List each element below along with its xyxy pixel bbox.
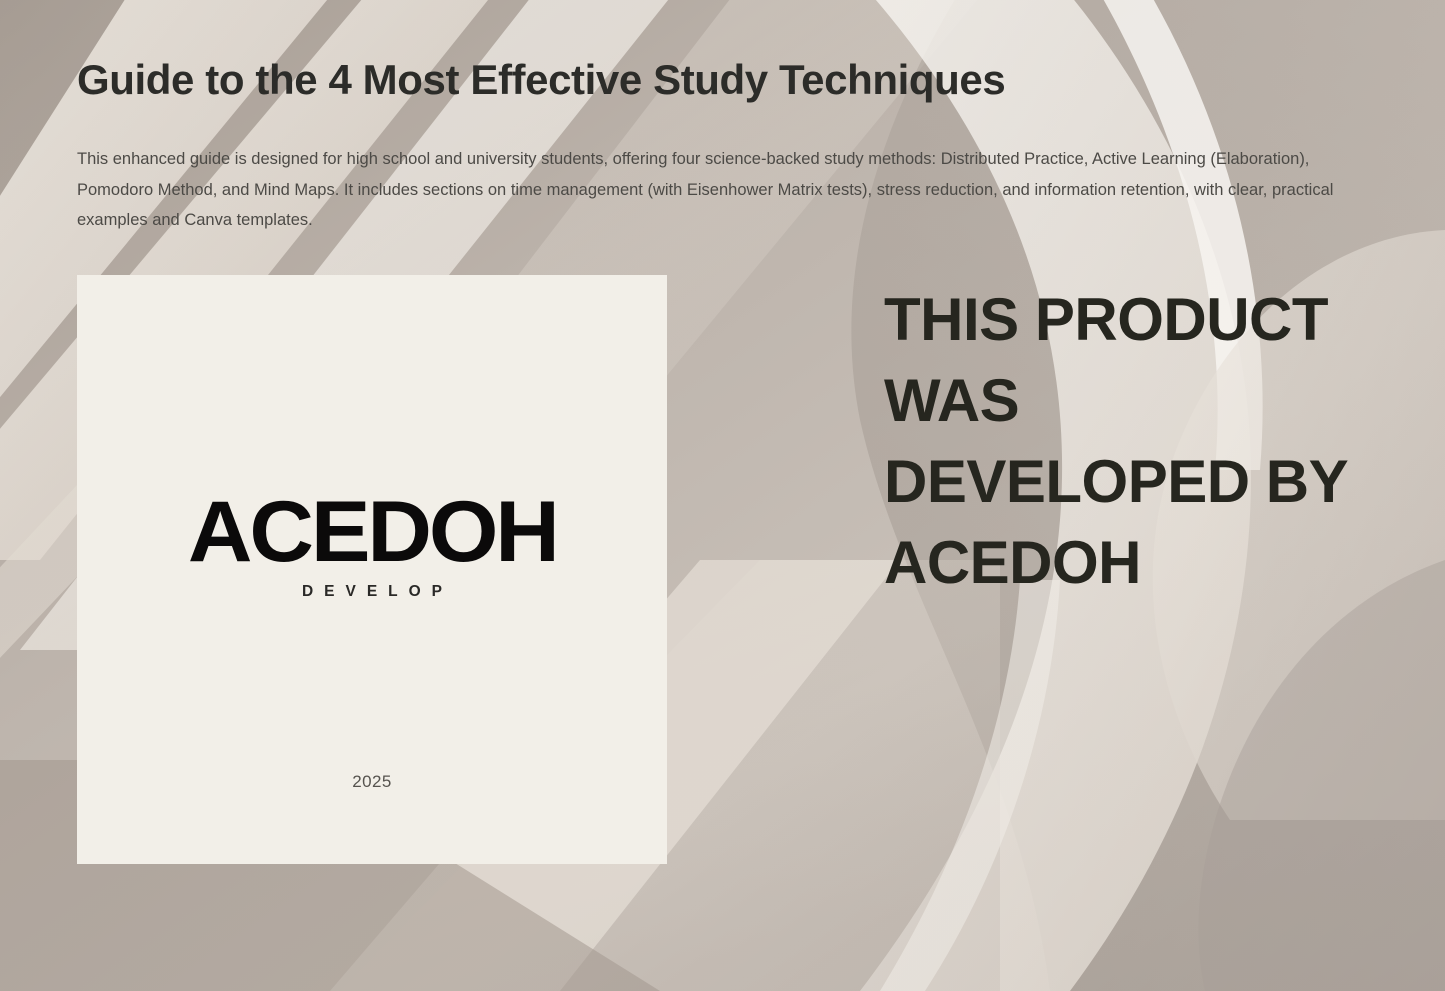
logo-card: ACEDOH DEVELOP 2025	[77, 275, 667, 864]
logo-card-year: 2025	[77, 772, 667, 792]
page-description: This enhanced guide is designed for high…	[77, 144, 1369, 236]
acedoh-tagline: DEVELOP	[77, 583, 667, 601]
slide-content: Guide to the 4 Most Effective Study Tech…	[0, 0, 1445, 991]
acedoh-wordmark: ACEDOH	[188, 493, 557, 572]
promo-headline: THIS PRODUCT WAS DEVELOPED BY ACEDOH	[884, 279, 1384, 603]
page-title: Guide to the 4 Most Effective Study Tech…	[77, 56, 1377, 104]
slide-canvas: Guide to the 4 Most Effective Study Tech…	[0, 0, 1445, 991]
logo-lockup: ACEDOH DEVELOP	[77, 493, 667, 601]
